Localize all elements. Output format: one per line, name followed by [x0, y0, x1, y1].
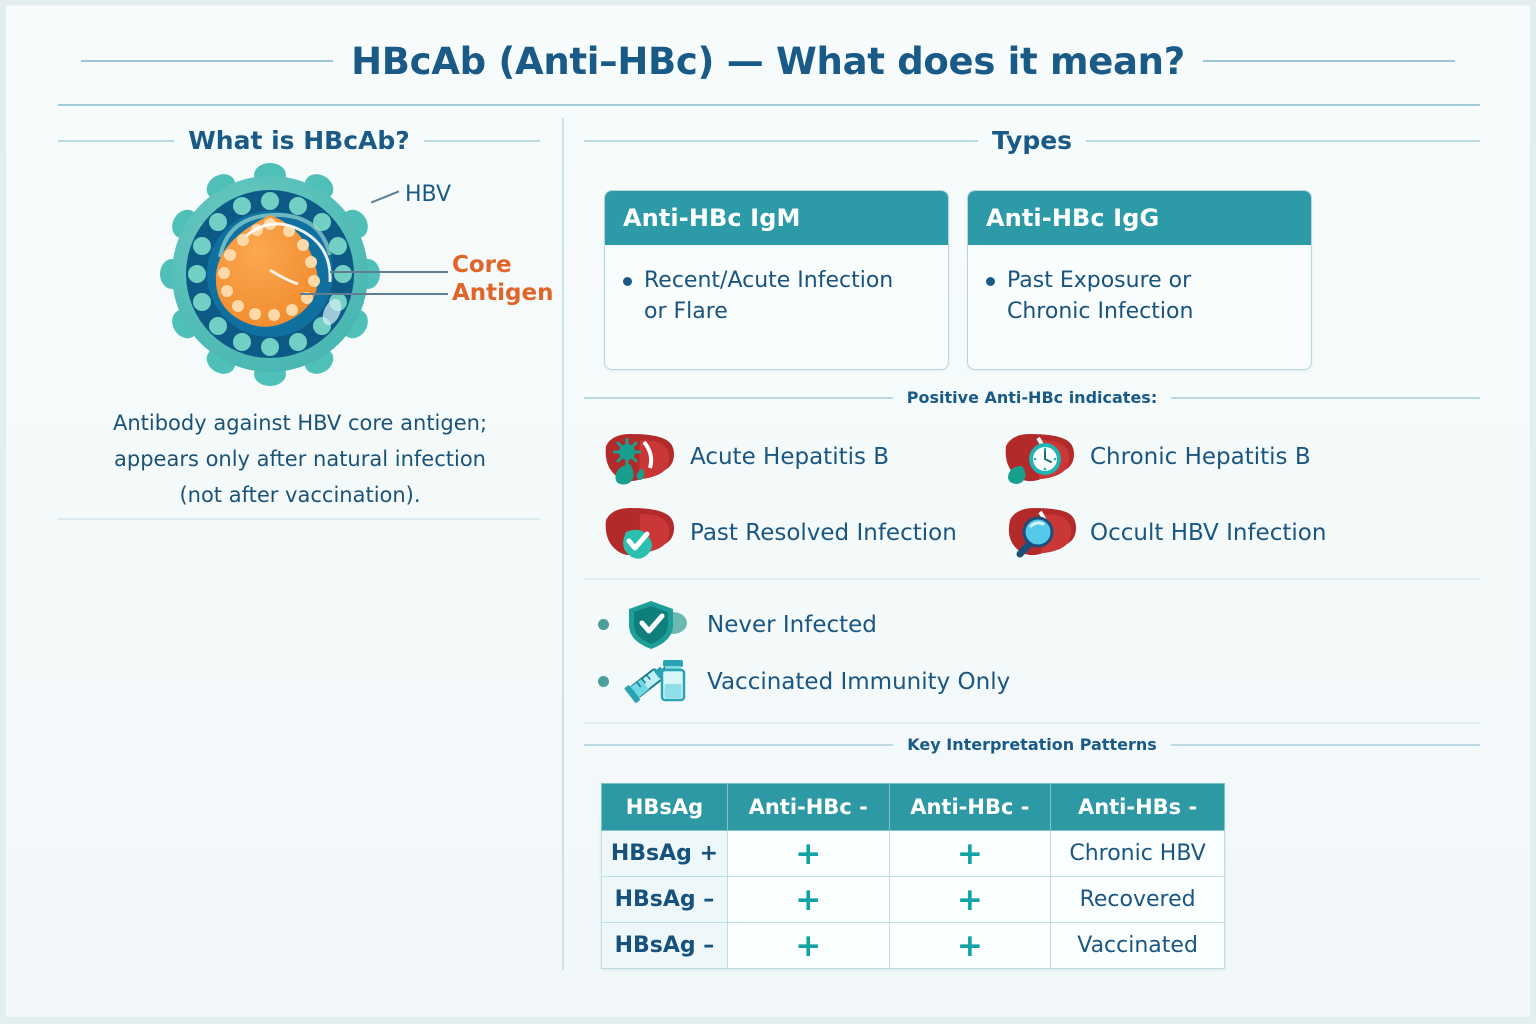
divider-after-positive	[584, 578, 1480, 580]
divider-before-table	[584, 722, 1480, 724]
table-row: HBsAg – + + Recovered	[602, 877, 1225, 923]
column-header-antihbc-2: Anti-HBc -	[889, 784, 1051, 831]
type-card-igm-text: Recent/Acute Infection or Flare	[644, 265, 893, 327]
page-title-row: HBcAb (Anti–HBc) — What does it mean?	[58, 30, 1478, 92]
types-heading: Types	[992, 126, 1072, 155]
bullet-dot-icon	[623, 277, 632, 286]
type-card-igg-body: Past Exposure or Chronic Infection	[968, 245, 1311, 369]
type-card-igm-body: Recent/Acute Infection or Flare	[605, 245, 948, 369]
type-card-igm[interactable]: Anti-HBc IgM Recent/Acute Infection or F…	[604, 190, 949, 370]
cell-antihbc-2: +	[889, 923, 1051, 969]
leader-line-core-lower	[300, 293, 448, 295]
liver-clock-icon	[1000, 428, 1076, 486]
list-item: Vaccinated Immunity Only	[598, 653, 1398, 710]
list-item: Acute Hepatitis B	[600, 428, 1000, 486]
positive-item-label: Acute Hepatitis B	[690, 444, 889, 470]
section-rule-left	[58, 140, 174, 142]
cell-antihbc-2: +	[889, 831, 1051, 877]
key-rule-left	[584, 744, 893, 746]
list-item: Occult HBV Infection	[1000, 504, 1400, 562]
positive-item-label: Past Resolved Infection	[690, 520, 957, 546]
list-item: Recent/Acute Infection or Flare	[623, 265, 930, 327]
syringe-vial-icon	[621, 656, 695, 708]
negative-items-list: Never Infected	[598, 596, 1398, 710]
column-header-hbsag: HBsAg	[602, 784, 728, 831]
types-rule-right	[1086, 140, 1480, 142]
type-card-igg[interactable]: Anti-HBc IgG Past Exposure or Chronic In…	[967, 190, 1312, 370]
table-row: HBsAg + + + Chronic HBV	[602, 831, 1225, 877]
positive-rule-left	[584, 397, 893, 399]
types-section-header-wrap: Types	[584, 126, 1480, 155]
positive-item-label: Chronic Hepatitis B	[1090, 444, 1311, 470]
list-item: Chronic Hepatitis B	[1000, 428, 1400, 486]
section-header-types: Types	[584, 126, 1480, 155]
section-header-key-patterns: Key Interpretation Patterns	[584, 735, 1480, 754]
cell-hbsag: HBsAg –	[602, 877, 728, 923]
shield-check-icon	[621, 599, 695, 651]
type-card-igm-line2: or Flare	[644, 299, 728, 324]
section-rule-right	[424, 140, 540, 142]
cell-result: Recovered	[1051, 877, 1225, 923]
core-antigen-label-line2: Antigen	[452, 279, 554, 307]
table-header-row: HBsAg Anti-HBc - Anti-HBc - Anti-HBs -	[602, 784, 1225, 831]
infographic-page: HBcAb (Anti–HBc) — What does it mean? Wh…	[0, 0, 1536, 1024]
bullet-dot-icon	[598, 676, 609, 687]
cell-antihbc-1: +	[727, 877, 889, 923]
list-item: Past Resolved Infection	[600, 504, 1000, 562]
left-heading: What is HBcAb?	[188, 126, 410, 155]
hbv-virus-svg	[150, 162, 390, 397]
cell-result: Chronic HBV	[1051, 831, 1225, 877]
type-card-igg-title: Anti-HBc IgG	[968, 191, 1311, 245]
page-title: HBcAb (Anti–HBc) — What does it mean?	[351, 40, 1185, 83]
positive-section-header-wrap: Positive Anti-HBc indicates:	[584, 388, 1480, 407]
cell-antihbc-1: +	[727, 923, 889, 969]
type-card-igg-line2: Chronic Infection	[1007, 299, 1193, 324]
list-item: Past Exposure or Chronic Infection	[986, 265, 1293, 327]
types-card-list: Anti-HBc IgM Recent/Acute Infection or F…	[604, 190, 1312, 370]
types-rule-left	[584, 140, 978, 142]
negative-item-label: Vaccinated Immunity Only	[707, 669, 1010, 695]
title-rule-left	[81, 60, 333, 62]
bullet-dot-icon	[598, 619, 609, 630]
left-panel: What is HBcAb?	[58, 126, 540, 155]
title-rule-right	[1203, 60, 1455, 62]
cell-antihbc-2: +	[889, 877, 1051, 923]
core-antigen-label: Core Antigen	[452, 251, 554, 307]
cell-hbsag: HBsAg –	[602, 923, 728, 969]
positive-items-grid: Acute Hepatitis B Chronic Hepatitis B	[600, 428, 1480, 562]
bullet-dot-icon	[986, 277, 995, 286]
liver-check-icon	[600, 504, 676, 562]
positive-item-label: Occult HBV Infection	[1090, 520, 1326, 546]
liver-virus-icon	[600, 428, 676, 486]
liver-magnifier-icon	[1000, 504, 1076, 562]
key-patterns-section-header-wrap: Key Interpretation Patterns	[584, 735, 1480, 754]
left-caption-line2: appears only after natural infection	[60, 441, 540, 477]
cell-antihbc-1: +	[727, 831, 889, 877]
type-card-igg-text: Past Exposure or Chronic Infection	[1007, 265, 1193, 327]
type-card-igm-title: Anti-HBc IgM	[605, 191, 948, 245]
key-interpretation-table: HBsAg Anti-HBc - Anti-HBc - Anti-HBs - H…	[601, 783, 1225, 969]
column-header-antihbc-1: Anti-HBc -	[727, 784, 889, 831]
left-caption: Antibody against HBV core antigen; appea…	[60, 405, 540, 513]
type-card-igm-line1: Recent/Acute Infection	[644, 268, 893, 293]
section-header-positive: Positive Anti-HBc indicates:	[584, 388, 1480, 407]
hbv-virus-diagram	[150, 162, 390, 397]
list-item: Never Infected	[598, 596, 1398, 653]
table-row: HBsAg – + + Vaccinated	[602, 923, 1225, 969]
frame-edge-left	[0, 0, 6, 1024]
key-rule-right	[1171, 744, 1480, 746]
core-antigen-label-line1: Core	[452, 251, 554, 279]
negative-item-label: Never Infected	[707, 612, 877, 638]
positive-heading: Positive Anti-HBc indicates:	[907, 388, 1157, 407]
positive-rule-right	[1171, 397, 1480, 399]
left-caption-line3: (not after vaccination).	[60, 477, 540, 513]
frame-edge-bottom	[0, 1017, 1536, 1024]
header-divider	[58, 104, 1480, 106]
hbv-label: HBV	[405, 182, 451, 207]
key-patterns-heading: Key Interpretation Patterns	[907, 735, 1156, 754]
leader-line-core-upper	[330, 271, 448, 273]
frame-edge-right	[1530, 0, 1536, 1024]
left-panel-bottom-rule	[58, 518, 540, 520]
section-header-what-is-hbcab: What is HBcAb?	[58, 126, 540, 155]
frame-edge-top	[0, 0, 1536, 5]
left-caption-line1: Antibody against HBV core antigen;	[60, 405, 540, 441]
column-header-antihbs: Anti-HBs -	[1051, 784, 1225, 831]
column-divider	[562, 118, 564, 970]
cell-result: Vaccinated	[1051, 923, 1225, 969]
type-card-igg-line1: Past Exposure or	[1007, 268, 1191, 293]
cell-hbsag: HBsAg +	[602, 831, 728, 877]
